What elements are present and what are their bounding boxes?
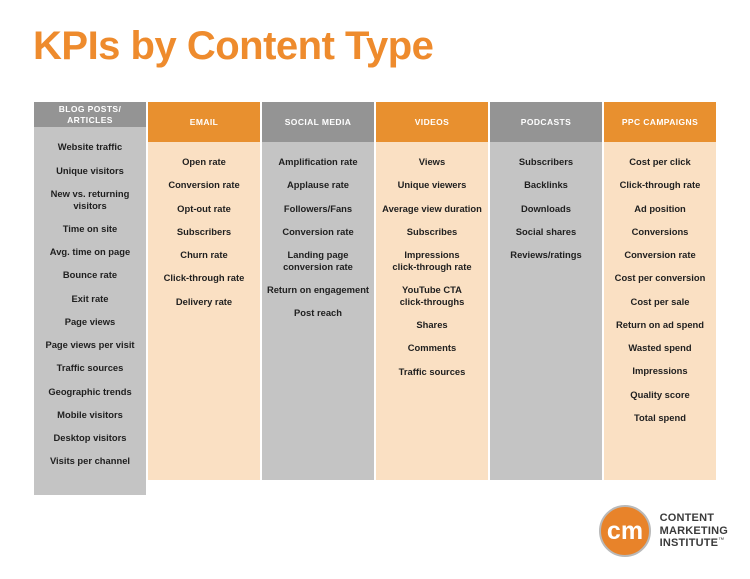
kpi-column: BLOG POSTS/ ARTICLESWebsite trafficUniqu… (33, 102, 147, 480)
kpi-item: Subscribes (380, 226, 484, 238)
kpi-item: Conversion rate (152, 179, 256, 191)
logo-wordmark: CONTENT MARKETING INSTITUTE™ (660, 512, 728, 551)
kpi-item: Desktop visitors (38, 432, 142, 444)
kpi-item: Page views per visit (38, 339, 142, 351)
kpi-item: Conversions (608, 226, 712, 238)
kpi-item: Quality score (608, 389, 712, 401)
page-title: KPIs by Content Type (33, 26, 433, 66)
kpi-column: PPC CAMPAIGNSCost per clickClick-through… (603, 102, 717, 480)
column-header: SOCIAL MEDIA (262, 102, 374, 142)
kpi-item: Click-through rate (608, 179, 712, 191)
kpi-item: Social shares (494, 226, 598, 238)
kpi-item: Shares (380, 319, 484, 331)
kpi-item: Mobile visitors (38, 409, 142, 421)
kpi-item: Wasted spend (608, 342, 712, 354)
kpi-item: YouTube CTA click-throughs (380, 284, 484, 308)
kpi-item: Churn rate (152, 249, 256, 261)
kpi-item: Unique visitors (38, 165, 142, 177)
column-body: Amplification rateApplause rateFollowers… (262, 142, 374, 480)
column-header: PODCASTS (490, 102, 602, 142)
kpi-column: SOCIAL MEDIAAmplification rateApplause r… (261, 102, 375, 480)
kpi-item: Delivery rate (152, 296, 256, 308)
column-body: SubscribersBacklinksDownloadsSocial shar… (490, 142, 602, 480)
kpi-item: Unique viewers (380, 179, 484, 191)
kpi-table: BLOG POSTS/ ARTICLESWebsite trafficUniqu… (33, 102, 717, 480)
logo-line-1: CONTENT (660, 512, 728, 525)
column-header: EMAIL (148, 102, 260, 142)
kpi-item: Backlinks (494, 179, 598, 191)
kpi-column: EMAILOpen rateConversion rateOpt-out rat… (147, 102, 261, 480)
kpi-item: Cost per sale (608, 296, 712, 308)
kpi-item: Impressions click-through rate (380, 249, 484, 273)
kpi-item: Bounce rate (38, 269, 142, 281)
column-body: Website trafficUnique visitorsNew vs. re… (34, 127, 146, 494)
kpi-item: Opt-out rate (152, 203, 256, 215)
kpi-item: Reviews/ratings (494, 249, 598, 261)
column-header: PPC CAMPAIGNS (604, 102, 716, 142)
kpi-item: Comments (380, 342, 484, 354)
kpi-item: Avg. time on page (38, 246, 142, 258)
kpi-item: Conversion rate (608, 249, 712, 261)
kpi-item: Landing page conversion rate (266, 249, 370, 273)
kpi-item: Cost per conversion (608, 272, 712, 284)
kpi-item: Views (380, 156, 484, 168)
kpi-item: Visits per channel (38, 455, 142, 467)
column-header: VIDEOS (376, 102, 488, 142)
kpi-item: Followers/Fans (266, 203, 370, 215)
content-marketing-institute-logo: cm CONTENT MARKETING INSTITUTE™ (599, 505, 728, 557)
kpi-item: Return on engagement (266, 284, 370, 296)
kpi-item: Ad position (608, 203, 712, 215)
kpi-item: Website traffic (38, 141, 142, 153)
kpi-item: Return on ad spend (608, 319, 712, 331)
column-header: BLOG POSTS/ ARTICLES (34, 102, 146, 127)
kpi-item: Cost per click (608, 156, 712, 168)
trademark-symbol: ™ (718, 538, 724, 544)
cm-logo-icon: cm (599, 505, 651, 557)
kpi-item: Applause rate (266, 179, 370, 191)
kpi-item: Subscribers (494, 156, 598, 168)
column-body: Open rateConversion rateOpt-out rateSubs… (148, 142, 260, 480)
logo-line-3-text: INSTITUTE (660, 537, 719, 549)
logo-line-2: MARKETING (660, 525, 728, 538)
kpi-item: Geographic trends (38, 386, 142, 398)
kpi-item: Total spend (608, 412, 712, 424)
kpi-item: Average view duration (380, 203, 484, 215)
kpi-item: Impressions (608, 365, 712, 377)
kpi-column: PODCASTSSubscribersBacklinksDownloadsSoc… (489, 102, 603, 480)
logo-line-3: INSTITUTE™ (660, 537, 728, 550)
kpi-item: Subscribers (152, 226, 256, 238)
kpi-column: VIDEOSViewsUnique viewersAverage view du… (375, 102, 489, 480)
kpi-item: New vs. returning visitors (38, 188, 142, 212)
kpi-item: Post reach (266, 307, 370, 319)
kpi-item: Traffic sources (380, 366, 484, 378)
kpi-item: Traffic sources (38, 362, 142, 374)
kpi-item: Click-through rate (152, 272, 256, 284)
kpi-item: Exit rate (38, 293, 142, 305)
kpi-item: Downloads (494, 203, 598, 215)
kpi-item: Page views (38, 316, 142, 328)
kpi-item: Open rate (152, 156, 256, 168)
svg-text:cm: cm (607, 517, 643, 545)
kpi-item: Time on site (38, 223, 142, 235)
column-body: Cost per clickClick-through rateAd posit… (604, 142, 716, 480)
column-body: ViewsUnique viewersAverage view duration… (376, 142, 488, 480)
kpi-item: Amplification rate (266, 156, 370, 168)
kpi-item: Conversion rate (266, 226, 370, 238)
